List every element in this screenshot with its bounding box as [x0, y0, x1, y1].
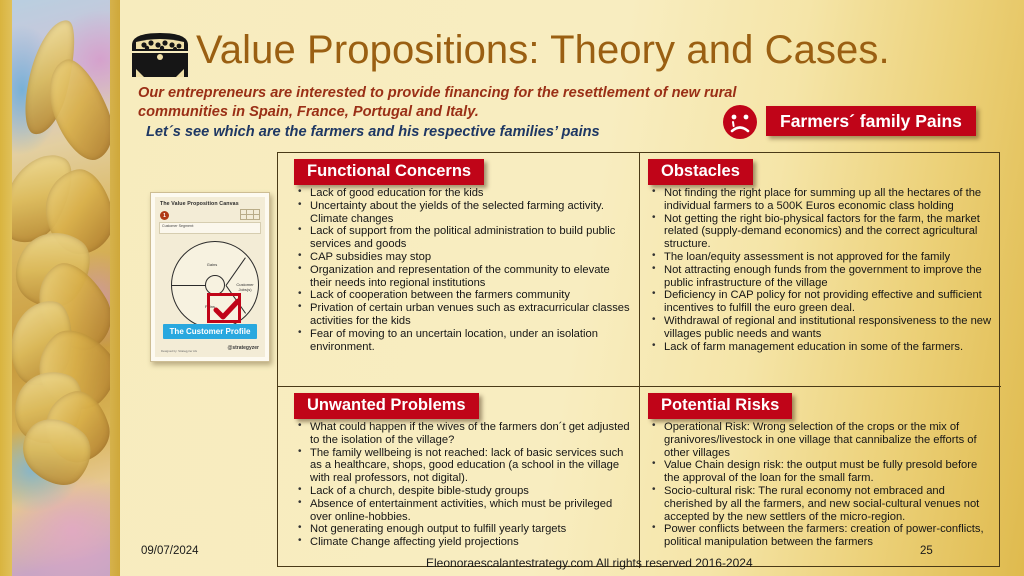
quadrant-functional-concerns: Functional Concerns Lack of good educati…	[278, 153, 640, 387]
list-item: Fear of moving to an uncertain location,…	[296, 328, 631, 354]
status-badge: Farmers´ family Pains	[766, 106, 976, 136]
quadrant-title: Obstacles	[648, 159, 753, 185]
list-item: Uncertainty about the yields of the sele…	[296, 200, 631, 226]
list-item: Lack of cooperation between the farmers …	[296, 289, 631, 302]
customer-profile-label: The Customer Profile	[163, 324, 257, 339]
list-item: Not generating enough output to fulfill …	[296, 523, 631, 536]
quadrant-bullet-list: What could happen if the wives of the fa…	[296, 421, 631, 549]
quadrant-potential-risks: Potential Risks Operational Risk: Wrong …	[640, 387, 1001, 568]
thumbnail-input-field: Customer Segment:	[159, 222, 261, 234]
subtitle-primary: Our entrepreneurs are interested to prov…	[138, 84, 758, 121]
thumbnail-sheet: The Value Proposition Canvas 1 Customer …	[155, 197, 265, 357]
list-item: Not finding the right place for summing …	[650, 187, 993, 213]
list-item: Organization and representation of the c…	[296, 264, 631, 290]
status-badge-label: Farmers´ family Pains	[780, 111, 962, 132]
subtitle-secondary: Let´s see which are the farmers and his …	[146, 123, 766, 142]
page-title: Value Propositions: Theory and Cases.	[196, 28, 890, 73]
sad-face-icon	[722, 104, 758, 140]
spoke-left	[172, 285, 206, 286]
list-item: Lack of farm management education in som…	[650, 341, 993, 354]
sunflower-watercolor-image	[12, 0, 110, 576]
slide-canvas: Value Propositions: Theory and Cases. Ou…	[0, 0, 1024, 576]
value-proposition-canvas-thumbnail[interactable]: The Value Proposition Canvas 1 Customer …	[150, 192, 270, 362]
list-item: Privation of certain urban venues such a…	[296, 302, 631, 328]
list-item: The loan/equity assessment is not approv…	[650, 251, 993, 264]
quadrant-title: Functional Concerns	[294, 159, 484, 185]
list-item: Lack of support from the political admin…	[296, 225, 631, 251]
list-item: The family wellbeing is not reached: lac…	[296, 447, 631, 485]
quadrant-bullet-list: Not finding the right place for summing …	[650, 187, 993, 353]
list-item: Withdrawal of regional and institutional…	[650, 315, 993, 341]
quadrant-title: Potential Risks	[648, 393, 792, 419]
red-checkmark-icon	[207, 293, 241, 323]
list-item: Lack of good education for the kids	[296, 187, 631, 200]
thumbnail-fine-print: Designed by: Strategyzer AG	[161, 349, 197, 353]
grid-icon	[240, 209, 260, 220]
list-item: CAP subsidies may stop	[296, 251, 631, 264]
list-item: Not attracting enough funds from the gov…	[650, 264, 993, 290]
label-customer-jobs: Customer Jobs(s)	[232, 282, 258, 292]
list-item: What could happen if the wives of the fa…	[296, 421, 631, 447]
list-item: Deficiency in CAP policy for not providi…	[650, 289, 993, 315]
strategyzer-brand: @strategyzer	[227, 345, 259, 351]
pains-quadrant-grid: Functional Concerns Lack of good educati…	[277, 152, 1000, 567]
thumbnail-title: The Value Proposition Canvas	[160, 201, 239, 207]
list-item: Socio-cultural risk: The rural economy n…	[650, 485, 993, 523]
label-gains: Gains	[198, 262, 226, 267]
slide-date: 09/07/2024	[141, 545, 199, 557]
treasure-chest-icon	[126, 27, 194, 79]
list-item: Operational Risk: Wrong selection of the…	[650, 421, 993, 459]
quadrant-obstacles: Obstacles Not finding the right place fo…	[640, 153, 1001, 387]
quadrant-bullet-list: Operational Risk: Wrong selection of the…	[650, 421, 993, 549]
left-decorative-border	[0, 0, 120, 576]
list-item: Absence of entertainment activities, whi…	[296, 498, 631, 524]
list-item: Not getting the right bio-physical facto…	[650, 213, 993, 251]
circle-center	[205, 275, 225, 295]
quadrant-title: Unwanted Problems	[294, 393, 479, 419]
list-item: Climate Change affecting yield projectio…	[296, 536, 631, 549]
list-item: Value Chain design risk: the output must…	[650, 459, 993, 485]
quadrant-unwanted-problems: Unwanted Problems What could happen if t…	[278, 387, 640, 568]
copyright-notice: Eleonoraescalantestrategy.com All rights…	[426, 556, 753, 570]
list-item: Lack of a church, despite bible-study gr…	[296, 485, 631, 498]
quadrant-bullet-list: Lack of good education for the kids Unce…	[296, 187, 631, 353]
list-item: Power conflicts between the farmers: cre…	[650, 523, 993, 549]
thumbnail-field-label: Customer Segment:	[162, 224, 194, 228]
thumbnail-step-badge: 1	[160, 211, 169, 220]
page-number: 25	[920, 545, 933, 557]
